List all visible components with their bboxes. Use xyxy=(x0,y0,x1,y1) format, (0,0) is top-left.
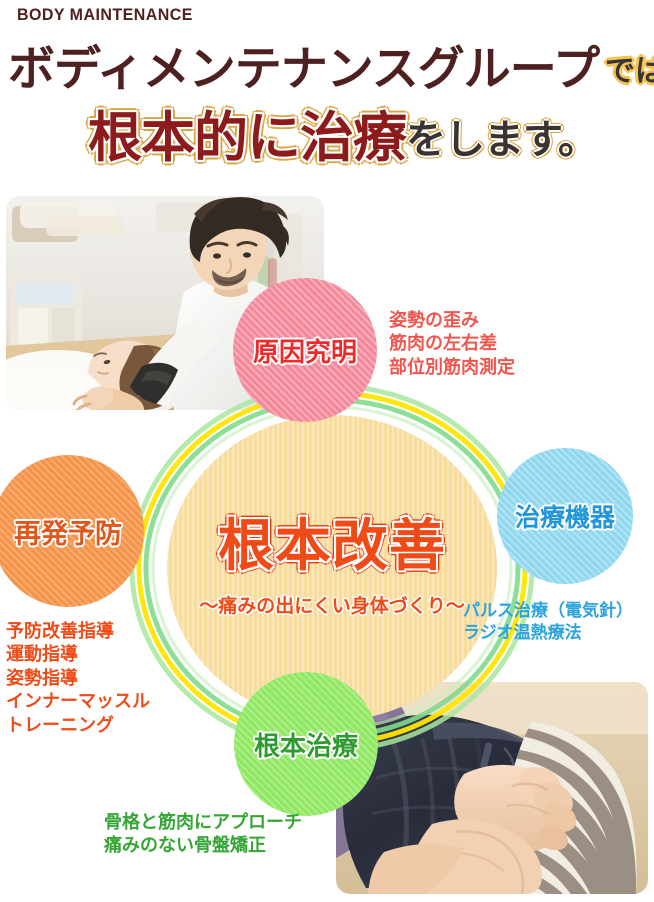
node-label-cause: 原因究明 xyxy=(253,332,357,369)
node-circle-equipment[interactable]: 治療機器 xyxy=(497,448,633,584)
header-line1-main: ボディメンテナンスグループ xyxy=(8,42,599,97)
node-circle-cause[interactable]: 原因究明 xyxy=(233,278,377,422)
node-details-equipment: パルス治療（電気針） ラジオ温熱療法 xyxy=(463,600,633,644)
node-label-equipment: 治療機器 xyxy=(515,498,615,534)
hands-on-hip-pelvis-adjustment-photo xyxy=(336,682,648,894)
center-circle-root-improvement: 根本改善 〜痛みの出にくい身体づくり〜 xyxy=(167,415,497,721)
infographic-root: BODY MAINTENANCE ボディメンテナンスグループでは、 根本的に治療… xyxy=(0,0,654,902)
node-label-treatment: 根本治療 xyxy=(254,726,358,763)
header-line-1: ボディメンテナンスグループでは、 xyxy=(8,30,654,99)
header-line2-tail: をします。 xyxy=(406,117,597,163)
header-line1-suffix: では、 xyxy=(599,54,654,89)
header-eyebrow: BODY MAINTENANCE xyxy=(17,5,193,25)
center-subtitle: 〜痛みの出にくい身体づくり〜 xyxy=(199,591,465,618)
node-circle-prevention[interactable]: 再発予防 xyxy=(0,455,144,607)
node-details-cause: 姿勢の歪み 筋肉の左右差 部位別筋肉測定 xyxy=(389,309,515,379)
node-details-prevention: 予防改善指導 運動指導 姿勢指導 インナーマッスル トレーニング xyxy=(6,620,150,737)
node-label-prevention: 再発予防 xyxy=(14,512,122,551)
center-title: 根本改善 xyxy=(218,519,446,575)
header-line-2: 根本的に治療をします。 xyxy=(88,93,597,172)
node-circle-treatment[interactable]: 根本治療 xyxy=(234,672,378,816)
header-line2-accent: 根本的に治療 xyxy=(88,106,406,169)
node-details-treatment: 骨格と筋肉にアプローチ 痛みのない骨盤矯正 xyxy=(104,811,302,858)
